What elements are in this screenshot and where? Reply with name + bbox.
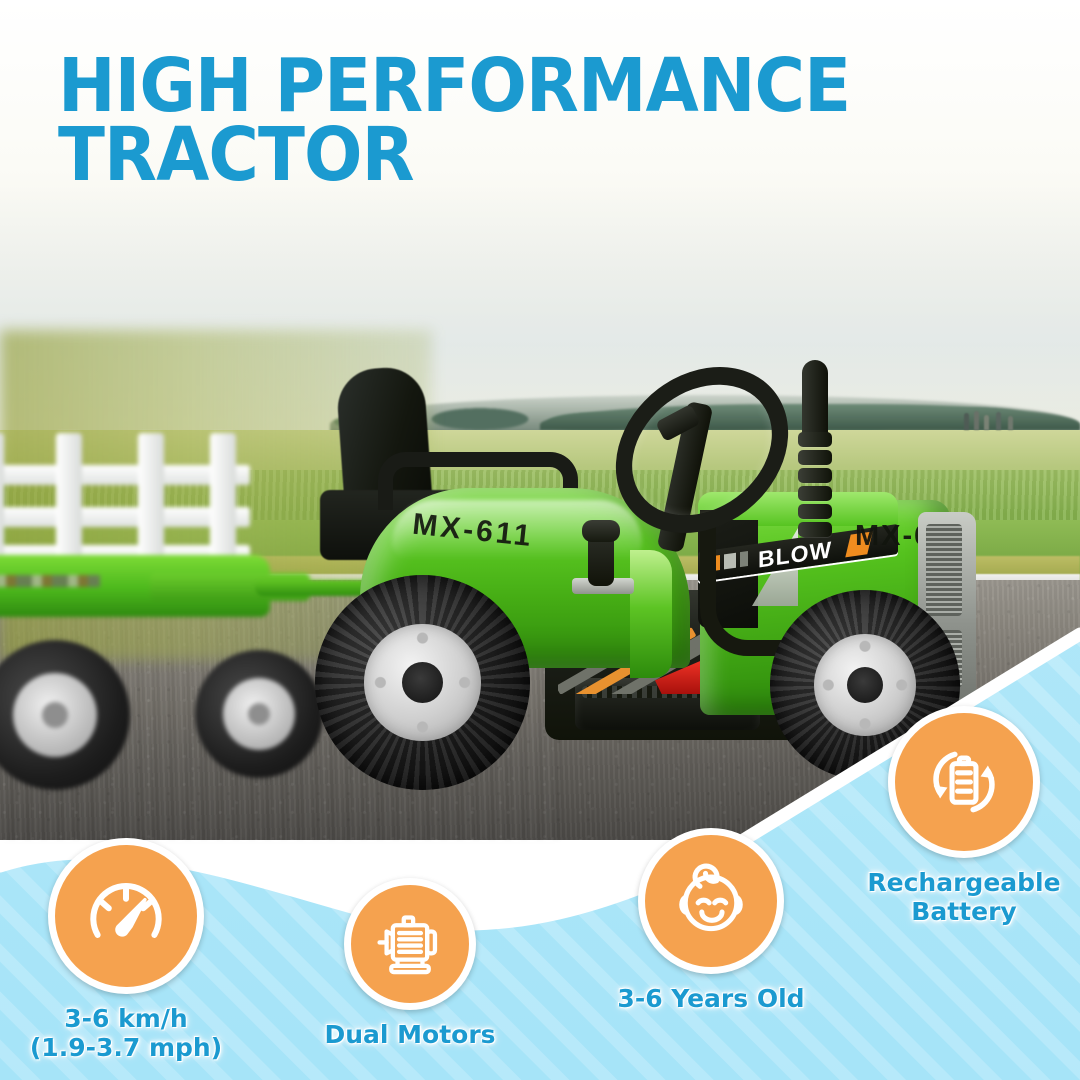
feature-motor-label: Dual Motors: [302, 1020, 518, 1049]
headline-line-2: TRACTOR: [58, 121, 895, 190]
tow-trailer: [0, 425, 330, 685]
rechargeable-battery-icon: [918, 736, 1010, 828]
trailer-stripe-decal: [0, 575, 100, 587]
age-badge: [638, 828, 784, 974]
battery-badge: [888, 706, 1040, 858]
feature-battery-label: Rechargeable Battery: [848, 868, 1080, 926]
page-title: HIGH PERFORMANCE TRACTOR: [58, 52, 895, 190]
feature-speed: 3-6 km/h (1.9-3.7 mph): [18, 838, 234, 1062]
headline-line-1: HIGH PERFORMANCE: [58, 52, 895, 121]
product-feature-banner: TRUCK BLOW MX-611 MX-611: [0, 0, 1080, 1080]
fender-lip: [630, 550, 672, 678]
trailer-wheel-left: [0, 640, 130, 790]
speedometer-icon: [83, 873, 169, 959]
gear-shifter-knob: [582, 520, 620, 542]
feature-age: 3-6 Years Old: [588, 828, 834, 1013]
feature-motor: Dual Motors: [302, 878, 518, 1049]
tractor-body: TRUCK BLOW MX-611 MX-611: [300, 360, 1000, 760]
feature-speed-label: 3-6 km/h (1.9-3.7 mph): [18, 1004, 234, 1062]
trailer-fence-rails: [0, 433, 250, 563]
speed-badge: [48, 838, 204, 994]
front-wheel: [315, 575, 530, 790]
baby-face-icon: [665, 855, 757, 947]
exhaust-stack: [798, 360, 832, 550]
feature-battery: Rechargeable Battery: [848, 706, 1080, 926]
feature-age-label: 3-6 Years Old: [588, 984, 834, 1013]
motor-badge: [344, 878, 476, 1010]
electric-motor-icon: [371, 905, 449, 983]
